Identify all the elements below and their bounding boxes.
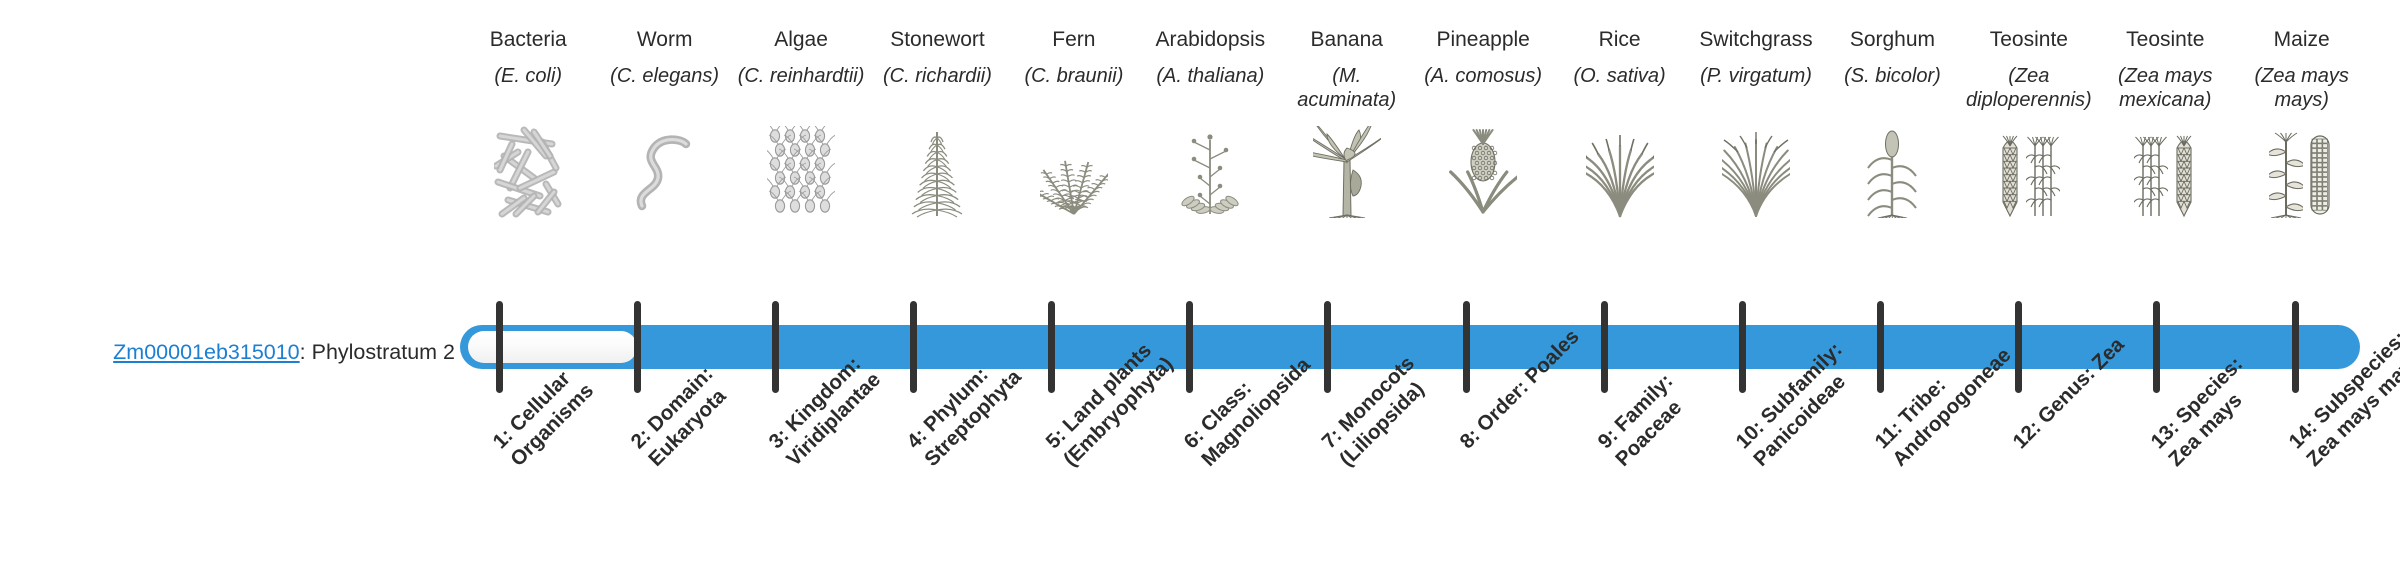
stratum-tick — [1186, 301, 1193, 393]
stratum-tick — [1739, 301, 1746, 393]
species-latin-name: (O. sativa) — [1573, 65, 1665, 117]
species-column: Banana(M. acuminata) — [1279, 28, 1415, 218]
species-column: Worm(C. elegans) — [596, 28, 732, 218]
switchgrass-clump-icon — [1690, 123, 1822, 218]
species-latin-name: (Zea mays mays) — [2235, 65, 2367, 117]
species-latin-name: (C. reinhardtii) — [738, 65, 865, 117]
species-latin-name: (Zea mays mexicana) — [2099, 65, 2231, 117]
banana-palm-icon — [1281, 123, 1413, 218]
species-common-name: Bacteria — [490, 28, 567, 56]
species-latin-name: (C. richardii) — [883, 65, 992, 117]
stonewort-alga-icon — [871, 123, 1003, 218]
stratum-tick — [2015, 301, 2022, 393]
species-latin-name: (A. comosus) — [1424, 65, 1542, 117]
species-common-name: Teosinte — [1990, 28, 2068, 56]
species-column: Maize(Zea mays mays) — [2233, 28, 2369, 218]
stratum-tick — [2292, 301, 2299, 393]
stratum-tick — [772, 301, 779, 393]
species-column: Fern(C. braunii) — [1006, 28, 1142, 218]
species-column: Pineapple(A. comosus) — [1415, 28, 1551, 218]
species-common-name: Algae — [774, 28, 828, 56]
stratum-tick — [1048, 301, 1055, 393]
species-column: Sorghum(S. bicolor) — [1824, 28, 1960, 218]
rice-grass-icon — [1553, 123, 1685, 218]
species-column: Rice(O. sativa) — [1551, 28, 1687, 218]
stratum-rank: Genus: — [2033, 362, 2099, 428]
species-column: Teosinte(Zea mays mexicana) — [2097, 28, 2233, 218]
species-latin-name: (P. virgatum) — [1700, 65, 1812, 117]
species-common-name: Rice — [1599, 28, 1641, 56]
stratum-tick — [2153, 301, 2160, 393]
species-common-name: Pineapple — [1436, 28, 1529, 56]
gene-accession-link[interactable]: Zm00001eb315010 — [113, 340, 300, 364]
maize-plant-cob-icon — [2235, 123, 2367, 218]
species-common-name: Worm — [637, 28, 693, 56]
species-latin-name: (S. bicolor) — [1844, 65, 1941, 117]
phylostratigraphy-figure: Zm00001eb315010: Phylostratum 2 Bacteria… — [0, 0, 2400, 580]
species-column: Switchgrass(P. virgatum) — [1688, 28, 1824, 218]
species-common-name: Switchgrass — [1699, 28, 1812, 56]
sorghum-stalk-icon — [1826, 123, 1958, 218]
stratum-tick — [1324, 301, 1331, 393]
stratum-tick — [496, 301, 503, 393]
stratum-index: 12: — [2008, 416, 2045, 453]
bacteria-rods-icon — [462, 123, 594, 218]
species-common-name: Fern — [1052, 28, 1095, 56]
stratum-tick — [1601, 301, 1608, 393]
arabidopsis-rosette-icon — [1144, 123, 1276, 218]
stratum-tick — [634, 301, 641, 393]
nematode-worm-icon — [598, 123, 730, 218]
chlamydomonas-cells-icon — [735, 123, 867, 218]
species-common-name: Teosinte — [2126, 28, 2204, 56]
species-latin-name: (C. braunii) — [1024, 65, 1123, 117]
teosinte-mexicana-icon — [2099, 123, 2231, 218]
species-column: Arabidopsis(A. thaliana) — [1142, 28, 1278, 218]
species-common-name: Sorghum — [1850, 28, 1935, 56]
fern-frond-icon — [1008, 123, 1140, 218]
stratum-rank: Order: — [1472, 376, 1533, 437]
species-column: Teosinte(Zea diploperennis) — [1961, 28, 2097, 218]
species-common-name: Banana — [1311, 28, 1383, 56]
species-common-name: Stonewort — [890, 28, 985, 56]
species-column: Stonewort(C. richardii) — [869, 28, 1005, 218]
gene-phylostratum-label: Zm00001eb315010: Phylostratum 2 — [0, 340, 455, 366]
species-common-name: Arabidopsis — [1155, 28, 1265, 56]
species-latin-name: (Zea diploperennis) — [1963, 65, 2095, 117]
species-common-name: Maize — [2274, 28, 2330, 56]
stratum-label-group: 1: Cellular Organisms2: Domain: Eukaryot… — [460, 425, 2360, 580]
species-latin-name: (E. coli) — [494, 65, 562, 117]
species-latin-name: (M. acuminata) — [1281, 65, 1413, 117]
pineapple-plant-icon — [1417, 123, 1549, 218]
species-column: Algae(C. reinhardtii) — [733, 28, 869, 218]
species-header-strip: Bacteria(E. coli) Worm(C. elegans) Algae… — [460, 28, 2370, 303]
species-column: Bacteria(E. coli) — [460, 28, 596, 218]
phylostratum-text: : Phylostratum 2 — [300, 340, 455, 364]
stratum-tick — [910, 301, 917, 393]
species-latin-name: (C. elegans) — [610, 65, 719, 117]
stratum-tick — [1463, 301, 1470, 393]
species-latin-name: (A. thaliana) — [1156, 65, 1264, 117]
stratum-tick — [1877, 301, 1884, 393]
teosinte-ear-plant-icon — [1963, 123, 2095, 218]
